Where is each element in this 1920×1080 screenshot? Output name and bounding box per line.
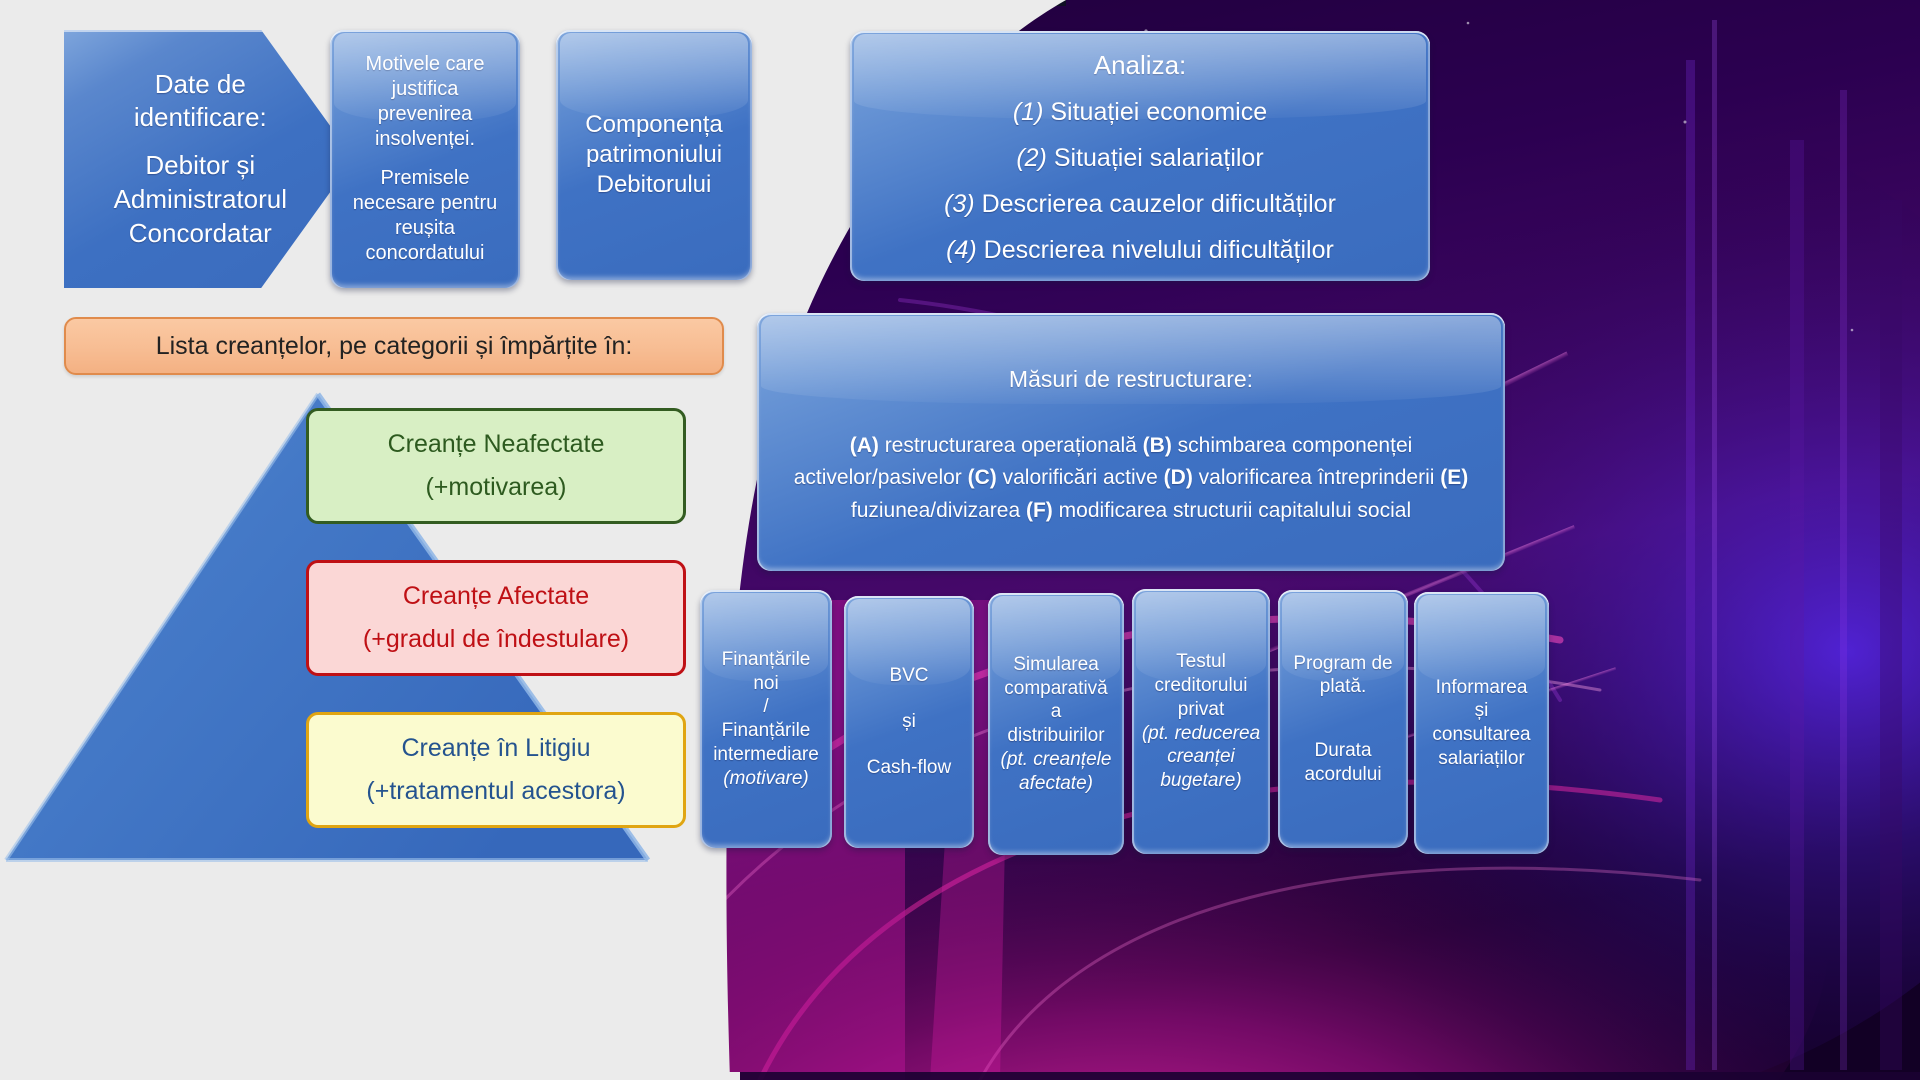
bot3-line3: a bbox=[1051, 700, 1062, 724]
bot3-italic: (pt. creanțele afectate) bbox=[996, 748, 1116, 796]
arrow-line-2: Debitor și Administratorul Concordatar bbox=[103, 149, 297, 250]
bot1-italic: (motivare) bbox=[723, 767, 809, 791]
analiza-item-1: (1) Situației economice bbox=[1013, 97, 1267, 128]
card-test-creditor-privat[interactable]: Testul creditorului privat (pt. reducere… bbox=[1132, 589, 1270, 854]
creante-litigiu-title: Creanțe în Litigiu bbox=[401, 734, 590, 763]
masuri-text-c: valorificări active bbox=[997, 466, 1164, 489]
masuri-label-d: (D) bbox=[1164, 466, 1193, 489]
analiza-item-2-number: (2) bbox=[1016, 144, 1047, 172]
card-finantari-noi[interactable]: Finanțările noi / Finanțările intermedia… bbox=[700, 590, 832, 848]
card-bvc-cashflow[interactable]: BVC și Cash-flow bbox=[844, 596, 974, 848]
bot4-line1: Testul bbox=[1176, 650, 1226, 674]
motive-paragraph-1: Motivele care justifica prevenirea insol… bbox=[342, 52, 508, 152]
card-masuri-restructurare[interactable]: Măsuri de restructurare: (A) restructura… bbox=[757, 313, 1505, 571]
creante-afectate-title: Creanțe Afectate bbox=[403, 582, 589, 611]
motive-paragraph-2: Premisele necesare pentru reușita concor… bbox=[342, 166, 508, 266]
bot5-line4: Durata bbox=[1314, 739, 1371, 763]
analiza-item-3-text: Descrierea cauzelor dificultăților bbox=[982, 190, 1336, 218]
analiza-item-3: (3) Descrierea cauzelor dificultăților bbox=[944, 189, 1336, 220]
bot5-line1: Program de bbox=[1293, 652, 1392, 676]
analiza-item-2-text: Situației salariaților bbox=[1054, 144, 1264, 172]
bot6-line4: salariaților bbox=[1438, 747, 1525, 771]
creante-neafectate-sub: (+motivarea) bbox=[425, 473, 566, 502]
card-creante-afectate[interactable]: Creanțe Afectate (+gradul de îndestulare… bbox=[306, 560, 686, 676]
masuri-text-a: restructurarea operațională bbox=[879, 434, 1143, 457]
bot2-line1: BVC bbox=[889, 664, 928, 688]
bot6-line2: și bbox=[1475, 699, 1489, 723]
masuri-label-c: (C) bbox=[968, 466, 997, 489]
analiza-item-4-number: (4) bbox=[946, 236, 977, 264]
masuri-label-f: (F) bbox=[1026, 499, 1053, 522]
masuri-label-b: (B) bbox=[1143, 434, 1172, 457]
arrow-line-1: Date de identificare: bbox=[103, 68, 297, 136]
masuri-line2-pre: activelor/pasivelor bbox=[794, 466, 968, 489]
masuri-label-e: (E) bbox=[1440, 466, 1468, 489]
banner-lista-creantelor[interactable]: Lista creanțelor, pe categorii și împărț… bbox=[64, 317, 724, 375]
bot1-line1: Finanțările bbox=[722, 648, 811, 672]
analiza-item-2: (2) Situației salariaților bbox=[1016, 143, 1263, 174]
bot4-line2: creditorului bbox=[1155, 674, 1248, 698]
creante-litigiu-sub: (+tratamentul acestora) bbox=[366, 777, 625, 806]
bot1-line2: noi bbox=[753, 672, 778, 696]
analiza-title: Analiza: bbox=[1094, 49, 1187, 82]
masuri-line3-pre: fuziunea/divizarea bbox=[851, 499, 1026, 522]
masuri-label-a: (A) bbox=[850, 434, 879, 457]
identification-arrow-shape[interactable]: Date de identificare: Debitor și Adminis… bbox=[64, 30, 354, 288]
patrimoniu-text: Componența patrimoniului Debitorului bbox=[568, 110, 740, 200]
bot4-line3: privat bbox=[1178, 698, 1224, 722]
analiza-item-1-text: Situației economice bbox=[1050, 98, 1267, 126]
analiza-item-4-text: Descrierea nivelului dificultăților bbox=[984, 236, 1334, 264]
card-informare-salariati[interactable]: Informarea și consultarea salariaților bbox=[1414, 592, 1549, 854]
masuri-text-f: modificarea structurii capitalului socia… bbox=[1053, 499, 1411, 522]
card-analiza[interactable]: Analiza: (1) Situației economice (2) Sit… bbox=[850, 31, 1430, 281]
bot6-line1: Informarea bbox=[1436, 676, 1528, 700]
bot3-line4: distribuirilor bbox=[1007, 724, 1104, 748]
masuri-body: (A) restructurarea operațională (B) schi… bbox=[779, 430, 1483, 528]
card-creante-neafectate[interactable]: Creanțe Neafectate (+motivarea) bbox=[306, 408, 686, 524]
bot5-line2: plată. bbox=[1320, 675, 1366, 699]
masuri-text-b: schimbarea componenței bbox=[1172, 434, 1412, 457]
bot5-line5: acordului bbox=[1304, 763, 1381, 787]
bot1-line3: / bbox=[763, 695, 768, 719]
bot4-italic: (pt. reducerea creanței bugetare) bbox=[1140, 722, 1262, 793]
bot1-line4: Finanțările bbox=[722, 719, 811, 743]
analiza-item-4: (4) Descrierea nivelului dificultăților bbox=[946, 235, 1334, 266]
analiza-item-3-number: (3) bbox=[944, 190, 975, 218]
bot1-line5: intermediare bbox=[713, 743, 819, 767]
bot3-line1: Simularea bbox=[1013, 653, 1099, 677]
bot6-line3: consultarea bbox=[1432, 723, 1530, 747]
bot2-line2: și bbox=[902, 710, 916, 734]
analiza-item-1-number: (1) bbox=[1013, 98, 1044, 126]
card-componenta-patrimoniului[interactable]: Componența patrimoniului Debitorului bbox=[556, 30, 752, 280]
card-simulare-distribuiri[interactable]: Simularea comparativă a distribuirilor (… bbox=[988, 593, 1124, 855]
card-program-plata[interactable]: Program de plată. Durata acordului bbox=[1278, 590, 1408, 848]
creante-afectate-sub: (+gradul de îndestulare) bbox=[363, 625, 629, 654]
card-motive-insolventa[interactable]: Motivele care justifica prevenirea insol… bbox=[330, 30, 520, 288]
lista-creantelor-label: Lista creanțelor, pe categorii și împărț… bbox=[156, 332, 633, 361]
creante-neafectate-title: Creanțe Neafectate bbox=[388, 430, 605, 459]
masuri-title: Măsuri de restructurare: bbox=[1009, 365, 1253, 394]
bot3-line2: comparativă bbox=[1004, 677, 1108, 701]
card-creante-litigiu[interactable]: Creanțe în Litigiu (+tratamentul acestor… bbox=[306, 712, 686, 828]
masuri-text-d: valorificarea întreprinderii bbox=[1193, 466, 1440, 489]
bot2-line3: Cash-flow bbox=[867, 756, 951, 780]
